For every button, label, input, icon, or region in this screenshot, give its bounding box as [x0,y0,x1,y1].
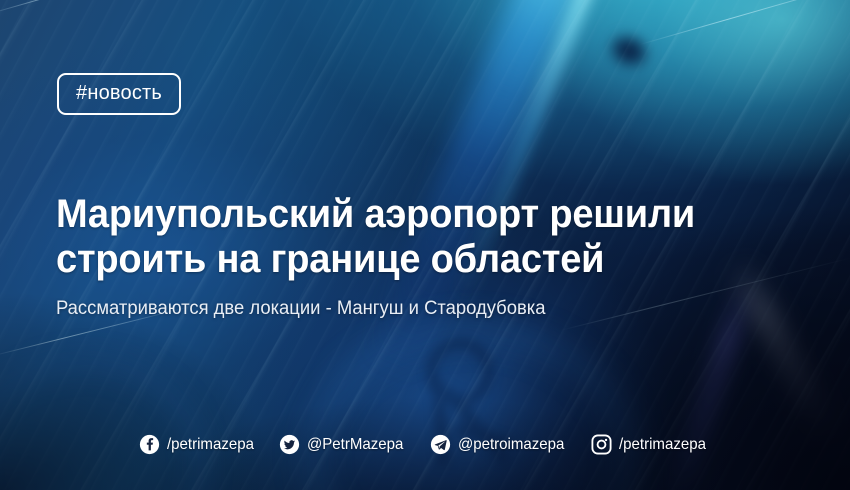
social-item-instagram[interactable]: /petrimazepa [591,434,712,455]
hashtag-badge[interactable]: #новость [57,73,181,115]
news-card: #новость Мариупольский аэропорт решили с… [0,0,850,490]
social-bar: /petrimazepa @PetrMazepa @petroimazepa [0,434,850,455]
social-item-telegram[interactable]: @petroimazepa [430,434,571,455]
page-title: Мариупольский аэропорт решили строить на… [56,192,721,282]
card-content: #новость Мариупольский аэропорт решили с… [0,0,850,490]
social-item-twitter[interactable]: @PetrMazepa [279,434,410,455]
social-label-instagram: /petrimazepa [619,435,706,455]
social-label-twitter: @PetrMazepa [307,435,403,455]
social-label-facebook: /petrimazepa [167,435,254,455]
telegram-icon [430,434,451,455]
subtitle: Рассматриваются две локации - Мангуш и С… [56,297,735,321]
social-label-telegram: @petroimazepa [458,435,564,455]
social-item-facebook[interactable]: /petrimazepa [139,434,260,455]
facebook-icon [139,434,160,455]
instagram-icon [591,434,612,455]
twitter-icon [279,434,300,455]
